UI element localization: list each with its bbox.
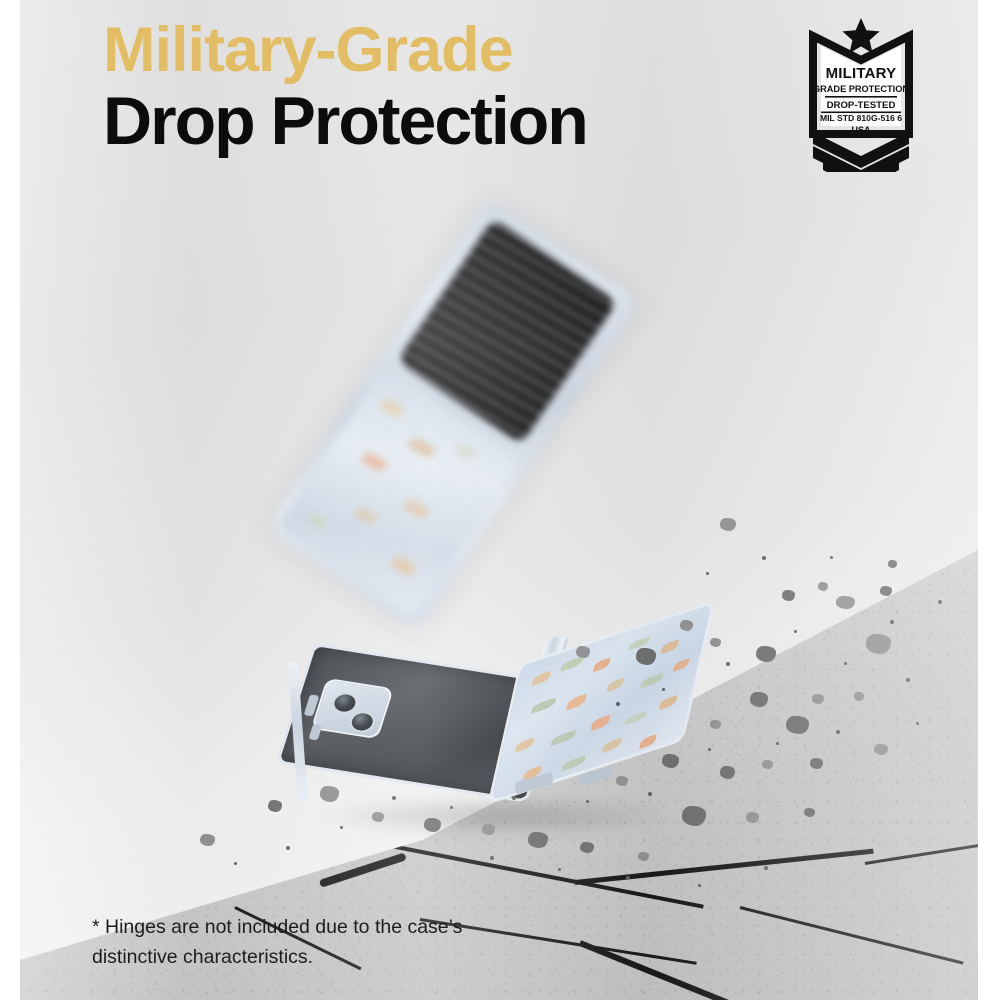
footnote-disclaimer: * Hinges are not included due to the cas… <box>92 912 522 972</box>
falling-phone-motion-blur <box>320 205 720 635</box>
badge-line-5: USA <box>851 125 871 135</box>
badge-line-4: MIL STD 810G-516 6 <box>820 113 902 123</box>
product-marketing-image: Military-Grade Drop Protection MILITARY … <box>0 0 1000 1000</box>
badge-line-1: MILITARY <box>826 65 897 82</box>
star-icon <box>842 18 879 53</box>
headline-line-1: Military-Grade <box>103 18 587 82</box>
motion-streaks <box>248 183 663 657</box>
badge-line-3: DROP-TESTED <box>827 100 896 111</box>
headline-group: Military-Grade Drop Protection <box>103 18 587 158</box>
headline-line-2: Drop Protection <box>103 86 587 157</box>
military-grade-protection-badge: MILITARY GRADE PROTECTION DROP-TESTED MI… <box>805 14 917 172</box>
badge-line-2: GRADE PROTECTION <box>813 84 909 94</box>
